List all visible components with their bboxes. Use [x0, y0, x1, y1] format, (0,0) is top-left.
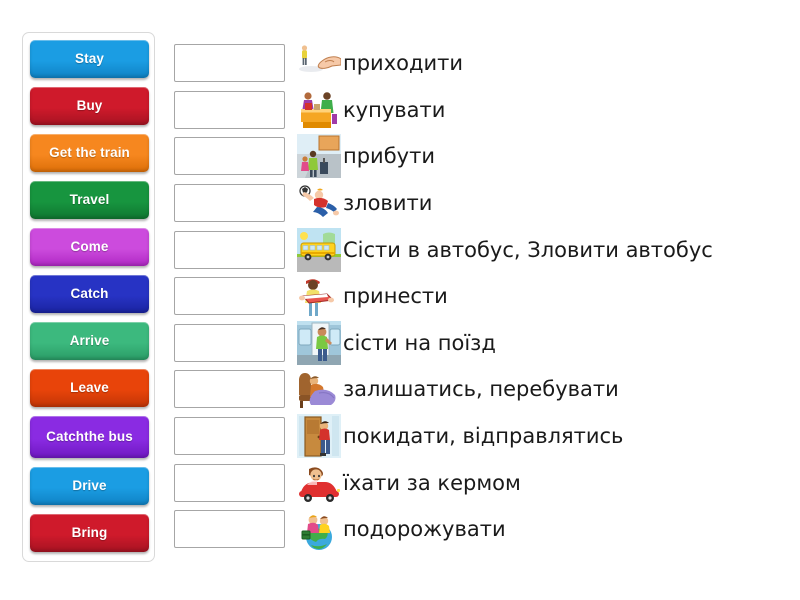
- drop-slot[interactable]: [174, 510, 285, 548]
- shop-counter-icon: [297, 88, 341, 132]
- drop-slot[interactable]: [174, 137, 285, 175]
- goalkeeper-catch-icon: [297, 181, 341, 225]
- word-tile-buy[interactable]: Buy: [30, 87, 149, 125]
- word-tile-catch[interactable]: Catch: [30, 275, 149, 313]
- answer-text: принести: [343, 284, 448, 308]
- answer-row: Сісти в автобус, Зловити автобус: [174, 226, 784, 273]
- word-tile-arrive[interactable]: Arrive: [30, 322, 149, 360]
- word-tile-label: Buy: [77, 99, 103, 114]
- answer-text: купувати: [343, 98, 445, 122]
- drop-slot[interactable]: [174, 44, 285, 82]
- word-tile-label: Drive: [72, 479, 106, 494]
- word-tile-label: Stay: [75, 52, 104, 67]
- word-tile-label: Catch: [70, 287, 108, 302]
- delivery-person-icon: [297, 274, 341, 318]
- boarding-train-icon: [297, 321, 341, 365]
- word-tile-get-the-train[interactable]: Get the train: [30, 134, 149, 172]
- pointing-hand-icon: [297, 41, 341, 85]
- answer-text: Сісти в автобус, Зловити автобус: [343, 238, 713, 262]
- word-tile-drive[interactable]: Drive: [30, 467, 149, 505]
- word-tile-label: Come: [71, 240, 109, 255]
- answer-row: залишатись, перебувати: [174, 366, 784, 413]
- answer-text: прибути: [343, 144, 435, 168]
- drop-slot[interactable]: [174, 324, 285, 362]
- word-tile-label: the bus: [84, 430, 133, 445]
- word-bank-panel: StayBuyGet the trainTravelComeCatchArriv…: [22, 32, 155, 562]
- answer-row: сісти на поїзд: [174, 320, 784, 367]
- word-tile-label: Arrive: [70, 334, 110, 349]
- answer-text: подорожувати: [343, 517, 506, 541]
- answer-text: приходити: [343, 51, 463, 75]
- drop-slot[interactable]: [174, 370, 285, 408]
- answer-row: зловити: [174, 180, 784, 227]
- word-tile-label: Get the train: [49, 146, 130, 161]
- answer-row: купувати: [174, 87, 784, 134]
- word-tile-stay[interactable]: Stay: [30, 40, 149, 78]
- word-tile-leave[interactable]: Leave: [30, 369, 149, 407]
- answer-text: їхати за кермом: [343, 471, 521, 495]
- word-tile-label: Leave: [70, 381, 109, 396]
- drop-slot[interactable]: [174, 91, 285, 129]
- answer-row: покидати, відправлятись: [174, 413, 784, 460]
- globe-travel-icon: [297, 507, 341, 551]
- drop-slot[interactable]: [174, 417, 285, 455]
- word-tile-label: Catch: [46, 430, 84, 445]
- word-tile-travel[interactable]: Travel: [30, 181, 149, 219]
- match-up-activity: StayBuyGet the trainTravelComeCatchArriv…: [0, 0, 800, 600]
- drop-slot[interactable]: [174, 464, 285, 502]
- answer-row: їхати за кермом: [174, 459, 784, 506]
- word-tile-bring[interactable]: Bring: [30, 514, 149, 552]
- drop-slot[interactable]: [174, 231, 285, 269]
- answer-rows-list: приходити купувати: [174, 40, 784, 553]
- drop-slot[interactable]: [174, 184, 285, 222]
- answer-row: прибути: [174, 133, 784, 180]
- red-car-driver-icon: [297, 461, 341, 505]
- answer-text: сісти на поїзд: [343, 331, 496, 355]
- word-tile-label: Bring: [72, 526, 108, 541]
- answer-row: принести: [174, 273, 784, 320]
- school-bus-icon: [297, 228, 341, 272]
- word-tile-come[interactable]: Come: [30, 228, 149, 266]
- answer-text: залишатись, перебувати: [343, 377, 619, 401]
- answer-text: покидати, відправлятись: [343, 424, 623, 448]
- word-tile-catch-the-bus[interactable]: Catchthe bus: [30, 416, 149, 458]
- answer-text: зловити: [343, 191, 432, 215]
- answer-row: приходити: [174, 40, 784, 87]
- answer-row: подорожувати: [174, 506, 784, 553]
- leaving-door-icon: [297, 414, 341, 458]
- word-tile-label: Travel: [70, 193, 110, 208]
- drop-slot[interactable]: [174, 277, 285, 315]
- armchair-rest-icon: [297, 367, 341, 411]
- arriving-family-icon: [297, 134, 341, 178]
